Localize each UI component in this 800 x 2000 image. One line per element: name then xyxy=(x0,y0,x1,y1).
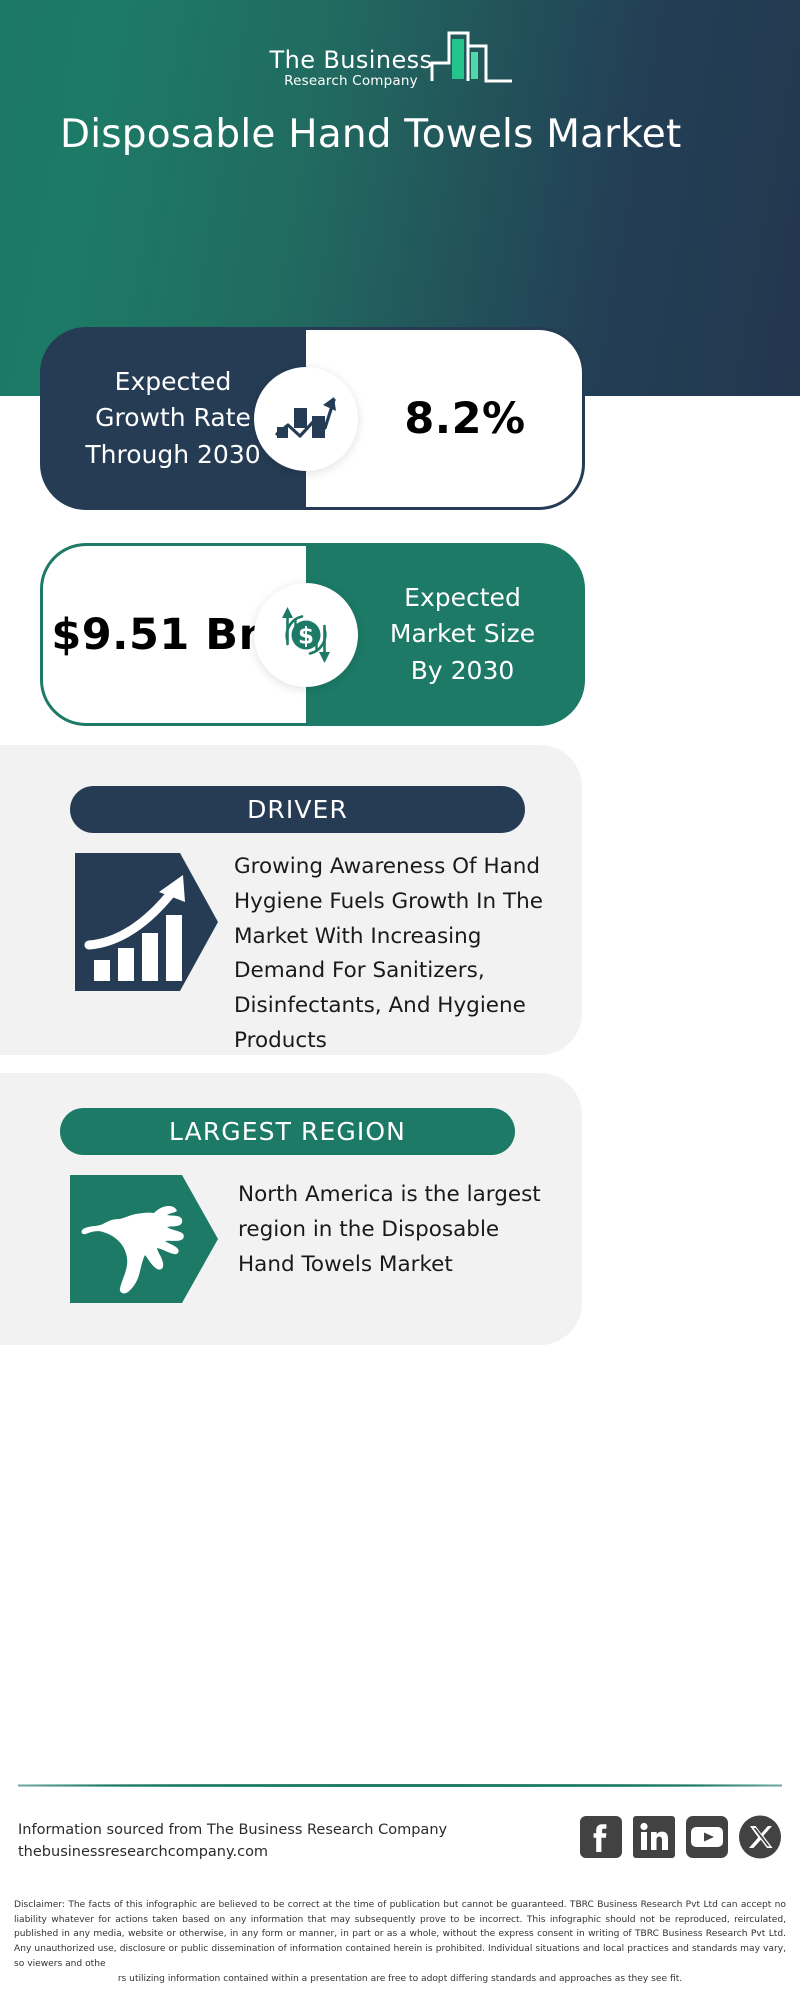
stat-label: Expected Market Size By 2030 xyxy=(346,580,546,689)
footer-source: Information sourced from The Business Re… xyxy=(18,1819,448,1864)
svg-text:$: $ xyxy=(298,624,314,650)
footer-divider xyxy=(18,1784,782,1787)
panel-driver-body: Growing Awareness Of Hand Hygiene Fuels … xyxy=(234,850,550,1059)
infographic-page: The Business Research Company Disposable… xyxy=(0,0,800,2000)
pill-driver: DRIVER xyxy=(70,786,525,833)
disclaimer-text: Disclaimer: The facts of this infographi… xyxy=(14,1898,786,1986)
logo-text-block: The Business Research Company xyxy=(270,48,433,93)
panel-largest-region-body: North America is the largest region in t… xyxy=(238,1178,560,1282)
company-logo: The Business Research Company xyxy=(0,22,800,92)
panel-driver: DRIVER Growing Awareness Of Hand Hygiene… xyxy=(0,745,582,1055)
pill-driver-label: DRIVER xyxy=(247,795,348,824)
disclaimer-body: Disclaimer: The facts of this infographi… xyxy=(14,1900,786,1969)
stat-label: Expected Growth Rate Through 2030 xyxy=(66,364,281,473)
linkedin-icon[interactable] xyxy=(632,1815,676,1859)
youtube-icon[interactable] xyxy=(685,1815,729,1859)
stat-card-market-size: $9.51 Bn Expected Market Size By 2030 $ xyxy=(40,543,585,726)
x-twitter-icon[interactable] xyxy=(738,1815,782,1859)
social-links xyxy=(579,1815,782,1859)
dollar-cycle-icon: $ xyxy=(254,583,358,687)
north-america-map-icon xyxy=(70,1175,218,1308)
page-title: Disposable Hand Towels Market xyxy=(60,110,740,160)
logo-line2: Research Company xyxy=(284,75,418,89)
footer-source-url[interactable]: thebusinessresearchcompany.com xyxy=(18,1841,448,1863)
bar-chart-logo-icon xyxy=(430,17,530,92)
pill-largest-region-label: LARGEST REGION xyxy=(169,1117,406,1146)
footer-source-line1: Information sourced from The Business Re… xyxy=(18,1819,448,1841)
ascending-bars-arrow-icon xyxy=(75,853,218,996)
pill-largest-region: LARGEST REGION xyxy=(60,1108,515,1155)
growth-chart-icon xyxy=(254,367,358,471)
stat-value: 8.2% xyxy=(362,394,525,444)
panel-largest-region: LARGEST REGION North America is the larg… xyxy=(0,1073,582,1345)
facebook-icon[interactable] xyxy=(579,1815,623,1859)
logo-line1: The Business xyxy=(270,48,433,72)
stat-card-growth-rate: Expected Growth Rate Through 2030 8.2% xyxy=(40,327,585,510)
disclaimer-last-line: rs utilizing information contained withi… xyxy=(14,1972,786,1987)
